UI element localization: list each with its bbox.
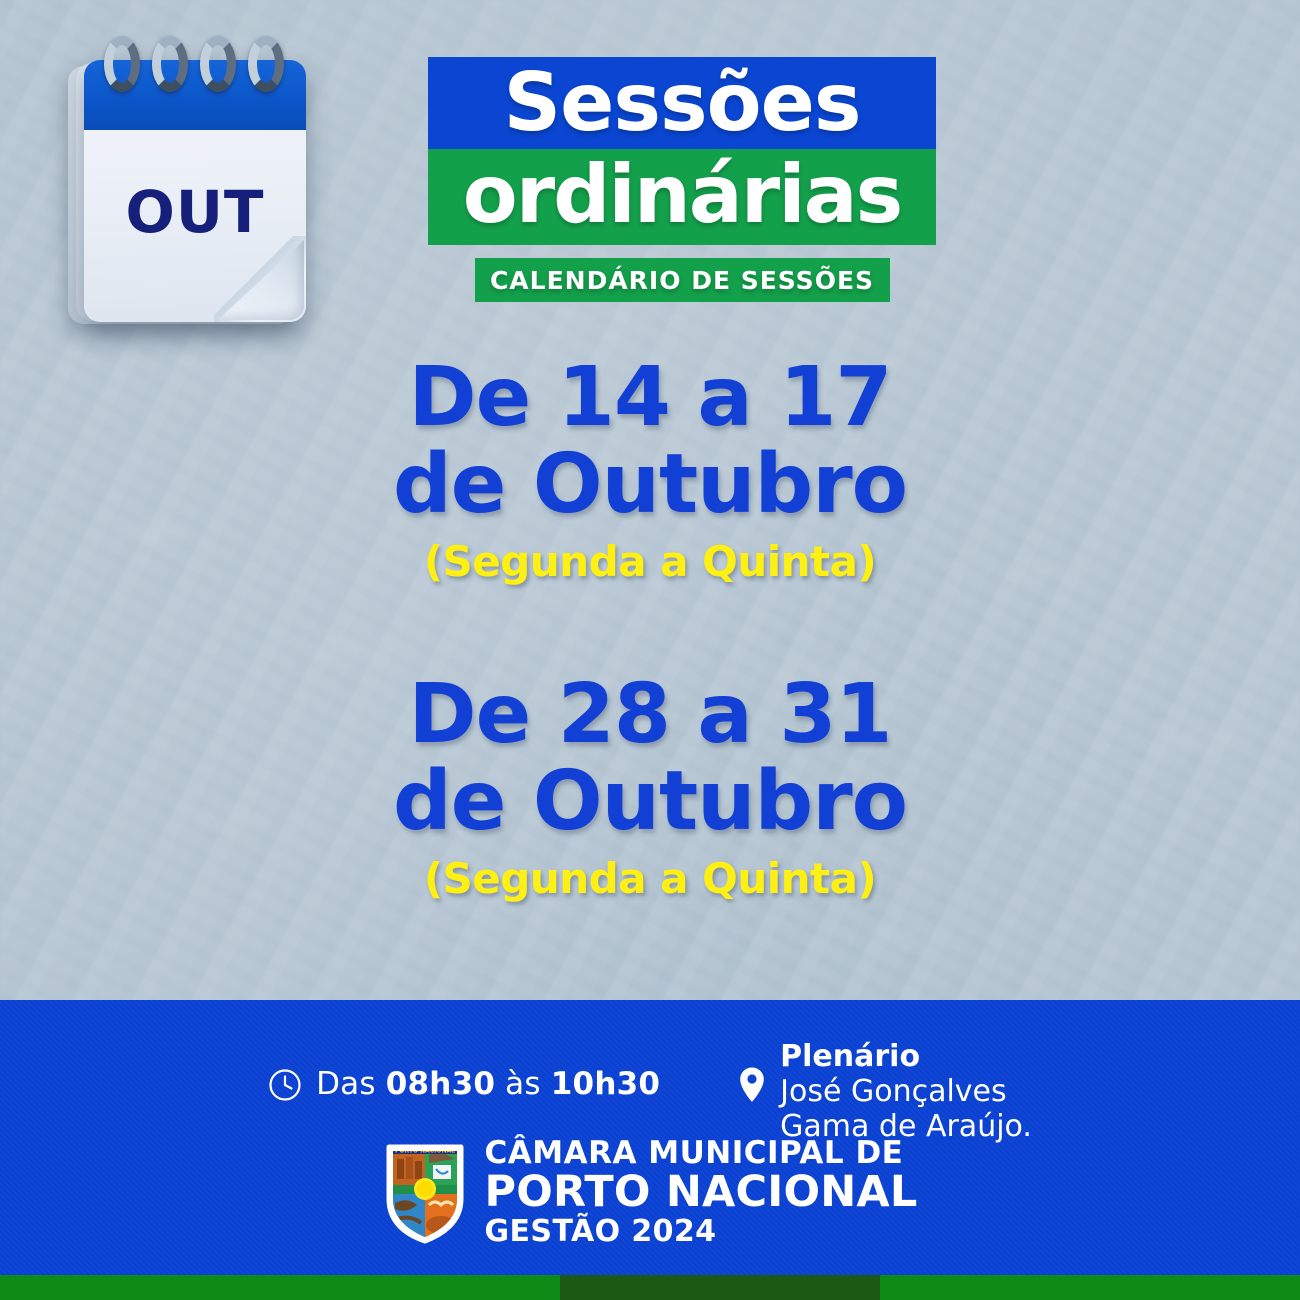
date-range-line2: de Outubro	[0, 759, 1300, 846]
place-title: Plenário	[780, 1039, 920, 1074]
logo-line-gestao: GESTÃO 2024	[485, 1217, 918, 1247]
spiral-ring	[248, 36, 284, 92]
logo-line-city: PORTO NACIONAL	[485, 1171, 918, 1214]
time-prefix: Das	[316, 1066, 386, 1102]
title-subtitle-badge: CALENDÁRIO DE SESSÕES	[475, 258, 890, 302]
title-block: Sessões ordinárias CALENDÁRIO DE SESSÕES	[428, 57, 936, 302]
session-place-text: Plenário José Gonçalves Gama de Araújo.	[780, 1040, 1032, 1144]
time-start: 08h30	[386, 1066, 495, 1102]
date-block-first: De 14 a 17 de Outubro (Segunda a Quinta)	[0, 355, 1300, 586]
date-range-second: De 28 a 31 de Outubro	[0, 672, 1300, 846]
bottom-accent-strip	[0, 1275, 1300, 1300]
date-blocks: De 14 a 17 de Outubro (Segunda a Quinta)…	[0, 355, 1300, 903]
session-time-text: Das 08h30 às 10h30	[316, 1066, 660, 1102]
location-pin-icon	[738, 1066, 766, 1109]
poster-canvas: OUT Sessões ordinárias CALENDÁRIO DE SES…	[0, 0, 1300, 1300]
footer-band: Das 08h30 às 10h30 Plenário José Gonçalv…	[0, 1000, 1300, 1275]
date-range-line2: de Outubro	[0, 442, 1300, 529]
date-range-first: De 14 a 17 de Outubro	[0, 355, 1300, 529]
calendar-spiral-rings	[102, 36, 302, 100]
calendar-icon: OUT	[66, 36, 318, 336]
session-place-item: Plenário José Gonçalves Gama de Araújo.	[738, 1040, 1032, 1144]
bottom-strip-shadow-segment	[560, 1275, 880, 1300]
logo-line-camara: CÂMARA MUNICIPAL DE	[485, 1138, 918, 1169]
date-range-line1: De 14 a 17	[0, 355, 1300, 442]
place-name-line1: José Gonçalves	[780, 1074, 1007, 1109]
time-middle: às	[495, 1066, 551, 1102]
time-end: 10h30	[551, 1066, 660, 1102]
clock-icon	[268, 1068, 302, 1107]
weekday-range-second: (Segunda a Quinta)	[0, 854, 1300, 903]
session-time-item: Das 08h30 às 10h30	[268, 1040, 660, 1107]
title-line-sessoes: Sessões	[428, 57, 936, 149]
date-range-line1: De 28 a 31	[0, 672, 1300, 759]
institution-logo-lockup: PORTO NACIONAL CÂMARA MUNICIPAL DE PORTO…	[0, 1138, 1300, 1247]
footer-info-row: Das 08h30 às 10h30 Plenário José Gonçalv…	[0, 1040, 1300, 1144]
title-line-ordinarias: ordinárias	[428, 149, 936, 245]
calendar-page-curl	[214, 236, 306, 322]
weekday-range-first: (Segunda a Quinta)	[0, 537, 1300, 586]
date-block-second: De 28 a 31 de Outubro (Segunda a Quinta)	[0, 672, 1300, 903]
spiral-ring	[152, 36, 188, 92]
spiral-ring	[200, 36, 236, 92]
coat-of-arms-icon: PORTO NACIONAL	[383, 1141, 467, 1245]
institution-name: CÂMARA MUNICIPAL DE PORTO NACIONAL GESTÃ…	[485, 1138, 918, 1247]
spiral-ring	[104, 36, 140, 92]
